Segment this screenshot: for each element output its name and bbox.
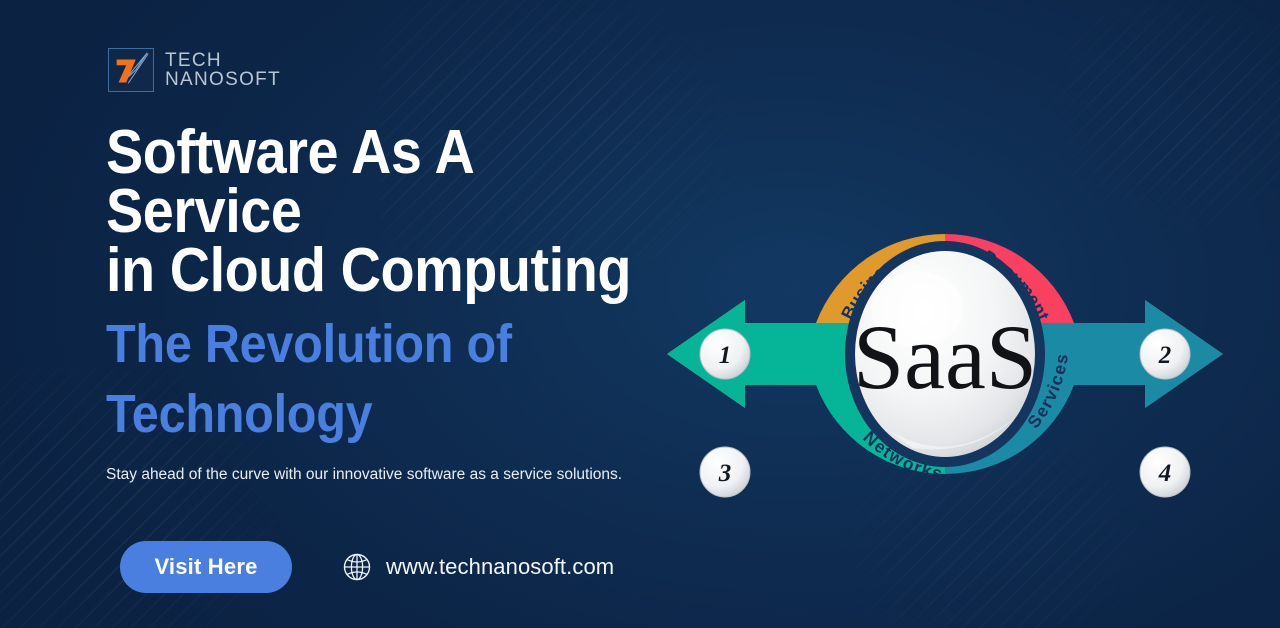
logo-seven-mark-icon	[108, 48, 154, 92]
brand-logo[interactable]: TECH NANOSOFT	[108, 48, 281, 92]
badge-4-number: 4	[1158, 460, 1172, 487]
visit-here-button[interactable]: Visit Here	[120, 541, 292, 593]
brand-name-line2: NANOSOFT	[165, 70, 281, 89]
brand-name: TECH NANOSOFT	[165, 51, 281, 90]
badge-1-number: 1	[719, 342, 732, 369]
page-title-line2: in Cloud Computing	[106, 242, 655, 301]
page-subtitle-line1: The Revolution of	[106, 317, 655, 371]
cta-row: Visit Here www.technanosoft.com	[120, 541, 614, 593]
globe-icon	[342, 552, 372, 582]
badge-3-number: 3	[718, 460, 732, 487]
badge-2-number: 2	[1158, 342, 1172, 369]
brand-name-line1: TECH	[165, 51, 281, 70]
website-url: www.technanosoft.com	[386, 554, 614, 580]
saas-center-label: SaaS	[853, 306, 1037, 408]
banner-root: TECH NANOSOFT Software As A Service in C…	[0, 0, 1280, 628]
page-subtitle-line2: Technology	[106, 387, 655, 441]
page-title-line1: Software As A Service	[106, 124, 655, 242]
hero-description: Stay ahead of the curve with our innovat…	[106, 463, 651, 486]
saas-center-sphere: SaaS	[845, 241, 1045, 467]
website-link[interactable]: www.technanosoft.com	[342, 552, 614, 582]
saas-cycle-diagram: Business Services 1 Document Management	[645, 104, 1245, 504]
hero-copy: Software As A Service in Cloud Computing…	[106, 124, 716, 486]
